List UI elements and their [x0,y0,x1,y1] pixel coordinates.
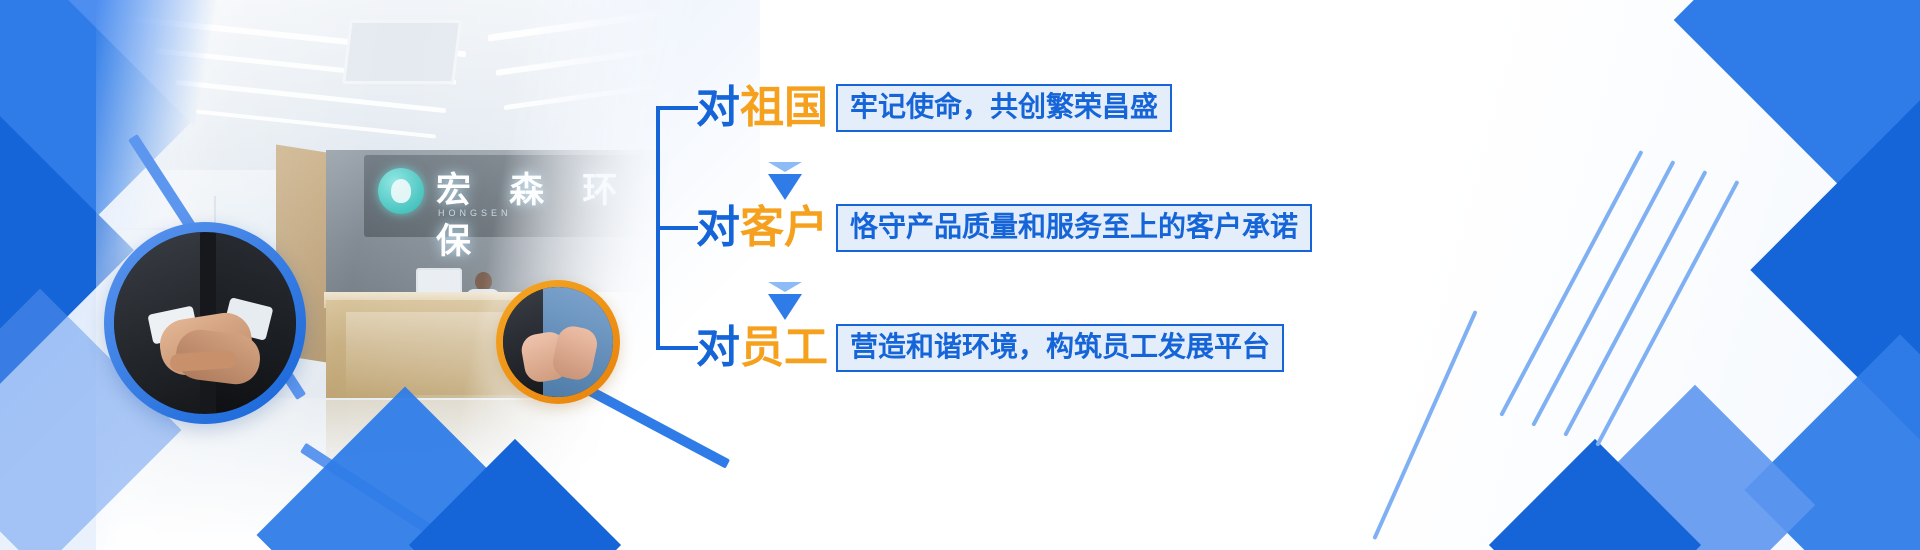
company-values-banner: 宏 森 环 保 HONGSEN [0,0,1920,550]
value-prefix: 对 [696,202,740,253]
applause-photo [503,287,613,397]
arrow-down-icon-body [768,294,802,320]
value-row-employee[interactable]: 对员工 营造和谐环境，构筑员工发展平台 [696,321,1284,375]
arrow-down-icon-body [768,174,802,200]
bracket-tick-top [656,106,698,110]
value-prefix: 对 [696,322,740,373]
value-slogan-employee: 营造和谐环境，构筑员工发展平台 [836,324,1284,372]
arrow-down-icon-top [768,282,802,292]
values-list: 对祖国 牢记使命，共创繁荣昌盛 对客户 恪守产品质量和服务至上的客户承诺 对员工 [650,0,1390,550]
bracket-connector [656,106,700,350]
arrow-down-icon-top [768,162,802,172]
value-prefix: 对 [696,82,740,133]
value-row-customer[interactable]: 对客户 恪守产品质量和服务至上的客户承诺 [696,201,1312,255]
value-slogan-customer: 恪守产品质量和服务至上的客户承诺 [836,204,1312,252]
bracket-tick-middle [656,226,698,230]
value-keyword: 祖国 [740,82,828,133]
value-keyword: 员工 [740,322,828,373]
value-lead-customer: 对客户 [696,206,828,250]
value-lead-country: 对祖国 [696,86,828,130]
handshake-photo [114,232,296,414]
value-slogan-country: 牢记使命，共创繁荣昌盛 [836,84,1172,132]
bracket-tick-bottom [656,346,698,350]
value-row-country[interactable]: 对祖国 牢记使命，共创繁荣昌盛 [696,81,1172,135]
value-keyword: 客户 [740,202,828,253]
value-lead-employee: 对员工 [696,326,828,370]
